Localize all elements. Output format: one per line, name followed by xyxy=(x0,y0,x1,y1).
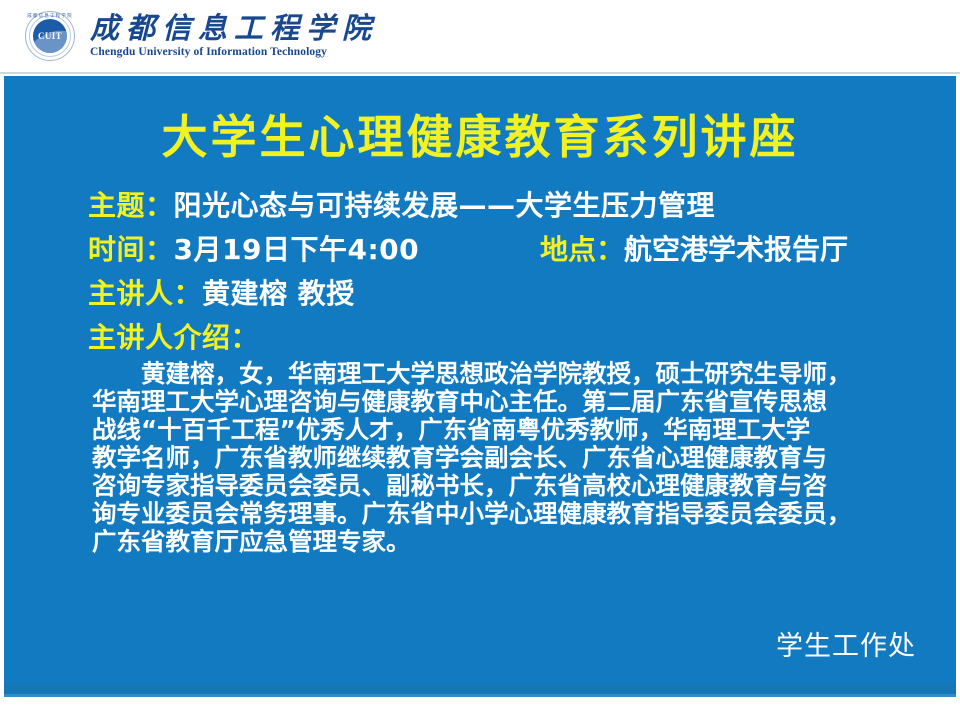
seal-disc: CUIT xyxy=(33,19,67,53)
slide-title: 大学生心理健康教育系列讲座 xyxy=(4,112,956,163)
slide-body-panel: 大学生心理健康教育系列讲座 主题：阳光心态与可持续发展——大学生压力管理 时间：… xyxy=(4,76,956,684)
subject-label: 主题： xyxy=(88,189,174,222)
place-value: 航空港学术报告厅 xyxy=(624,233,848,266)
university-name-en: Chengdu University of Information Techno… xyxy=(90,46,378,58)
place-row: 地点：航空港学术报告厅 xyxy=(540,228,848,268)
place-label: 地点： xyxy=(540,233,624,266)
bio-line: 广东省教育厅应急管理专家。 xyxy=(92,528,956,556)
panel-bottom-band xyxy=(4,684,956,694)
subject-row: 主题：阳光心态与可持续发展——大学生压力管理 xyxy=(88,184,715,224)
time-row: 时间：3月19日下午4:00 xyxy=(88,228,419,268)
bio-line: 黄建榕，女，华南理工大学思想政治学院教授，硕士研究生导师， xyxy=(92,360,956,388)
speaker-value: 黄建榕 教授 xyxy=(202,277,355,310)
speaker-label: 主讲人： xyxy=(88,277,202,310)
seal-monogram: CUIT xyxy=(33,19,67,53)
time-label: 时间： xyxy=(88,233,174,266)
bio-line: 华南理工大学心理咨询与健康教育中心主任。第二届广东省宣传思想 xyxy=(92,388,956,416)
subject-value: 阳光心态与可持续发展——大学生压力管理 xyxy=(174,189,716,222)
bio-line: 询专业委员会常务理事。广东省中小学心理健康教育指导委员会委员， xyxy=(92,500,956,528)
bio-line: 咨询专家指导委员会委员、副秘书长，广东省高校心理健康教育与咨 xyxy=(92,472,956,500)
bio-line: 教学名师，广东省教师继续教育学会副会长、广东省心理健康教育与 xyxy=(92,444,956,472)
presentation-slide: 成都信息工程学院 CUIT 成都信息工程学院 Chengdu Universit… xyxy=(0,0,960,720)
bio-line: 战线“十百千工程”优秀人才，广东省南粤优秀教师，华南理工大学 xyxy=(92,416,956,444)
issuing-office-signoff: 学生工作处 xyxy=(4,624,916,663)
university-wordmark: 成都信息工程学院 Chengdu University of Informati… xyxy=(90,14,378,58)
speaker-biography: 黄建榕，女，华南理工大学思想政治学院教授，硕士研究生导师， 华南理工大学心理咨询… xyxy=(92,360,956,556)
slide-header: 成都信息工程学院 CUIT 成都信息工程学院 Chengdu Universit… xyxy=(0,0,960,74)
university-name-cn: 成都信息工程学院 xyxy=(90,14,378,44)
speaker-intro-heading: 主讲人介绍： xyxy=(88,316,259,356)
time-value: 3月19日下午4:00 xyxy=(174,233,420,266)
speaker-row: 主讲人：黄建榕 教授 xyxy=(88,272,355,312)
panel-bottom-rule xyxy=(4,694,956,697)
cuit-seal-icon: 成都信息工程学院 CUIT xyxy=(24,10,76,62)
